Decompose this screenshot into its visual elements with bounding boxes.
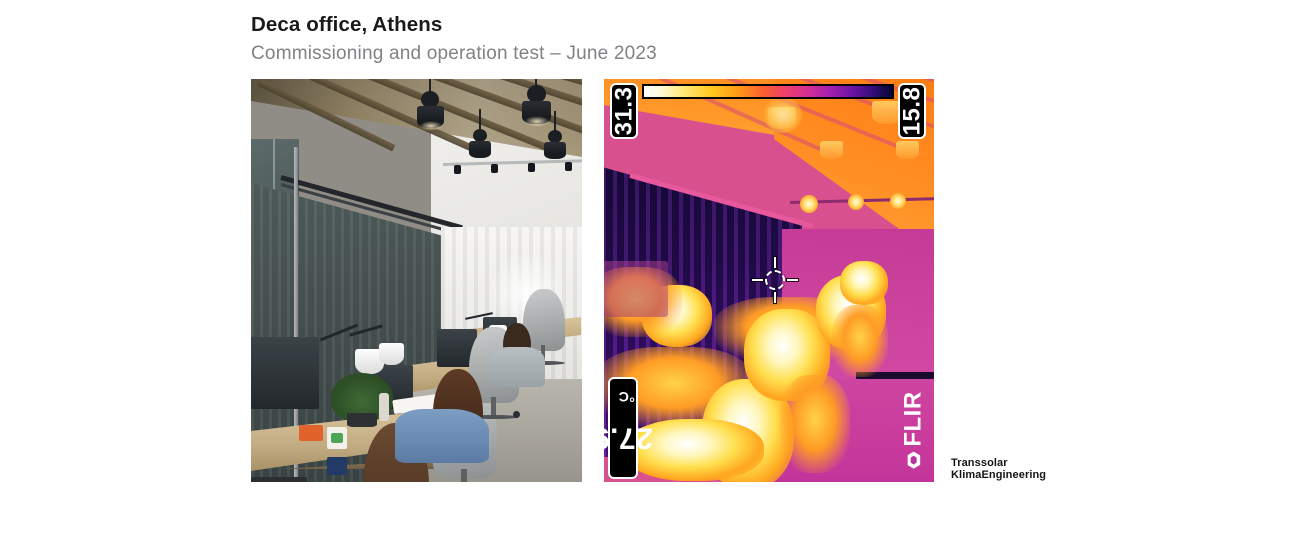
photo-pendant-lamp — [469, 141, 491, 158]
thermal-pendant-lamp — [820, 141, 843, 159]
page-subtitle: Commissioning and operation test – June … — [251, 43, 657, 65]
photo-desk-item — [299, 425, 323, 441]
photo-desk-mug — [327, 457, 347, 475]
thermal-spotlight-hot — [848, 194, 864, 210]
flir-diamond-icon — [908, 452, 921, 469]
crosshair-arm-bottom — [774, 292, 776, 303]
thermal-pendant-lamp — [896, 141, 919, 159]
photo-plant-pot — [347, 413, 377, 427]
photo-person-body — [395, 409, 489, 463]
photo-pendant-cord — [554, 111, 556, 132]
photo-pendant-lamp — [544, 142, 566, 159]
thermal-chair-warm — [832, 305, 888, 377]
photo-track-spotlight — [491, 164, 498, 173]
photo-person-body — [489, 347, 545, 387]
thermal-spotlight-hot — [890, 193, 906, 209]
thermal-monitor-hot — [840, 261, 888, 305]
photo-desk-item — [379, 393, 389, 421]
transsolar-logo-line2: KlimaEngineering — [951, 470, 1046, 482]
crosshair-ring — [765, 270, 785, 290]
crosshair-arm-right — [787, 279, 798, 281]
thermal-colorbar — [642, 84, 894, 99]
thermal-spot-readout: 27.9 °C — [608, 377, 638, 479]
thermal-spotlight-hot — [800, 195, 818, 213]
photo-track-spotlight — [565, 162, 572, 171]
flir-wordmark: FLIR — [900, 391, 928, 446]
thermal-spot-crosshair-icon — [752, 257, 798, 303]
photo-pendant-cord — [479, 109, 481, 131]
photo-chair-caster — [513, 411, 520, 418]
photo-track-spotlight — [528, 163, 535, 172]
photo-keyboard — [251, 477, 307, 482]
photo-chair-post — [461, 469, 467, 482]
thermal-scale-min-value: 15.8 — [898, 87, 926, 136]
crosshair-arm-left — [752, 279, 763, 281]
photo-pendant-glow — [524, 116, 550, 127]
thermal-scale-min: 15.8 — [898, 83, 926, 139]
thermal-spot-value: 27.9 — [604, 420, 653, 454]
thermal-cool-panel — [604, 261, 668, 317]
photo-monitor — [251, 337, 319, 409]
photo-chair-post — [491, 397, 496, 417]
photo-track-spotlight — [454, 165, 461, 174]
thermal-scale-max-value: 31.3 — [610, 87, 638, 136]
photo-task-lamp — [379, 343, 404, 365]
crosshair-arm-top — [774, 257, 776, 268]
thermal-spot-unit: °C — [619, 389, 636, 405]
flir-logo: FLIR — [898, 384, 930, 476]
thermal-scale-max: 31.3 — [610, 83, 638, 139]
thermal-pendant-glow — [764, 97, 802, 133]
thermal-image: 31.3 15.8 27.9 °C FLIR — [604, 79, 934, 482]
photo-desk-item — [331, 433, 343, 443]
photo-pendant-glow — [419, 121, 443, 131]
office-photo — [251, 79, 582, 482]
thermal-chair-warm — [780, 375, 850, 473]
page-title: Deca office, Athens — [251, 13, 442, 37]
transsolar-logo: Transsolar KlimaEngineering — [951, 458, 1046, 482]
